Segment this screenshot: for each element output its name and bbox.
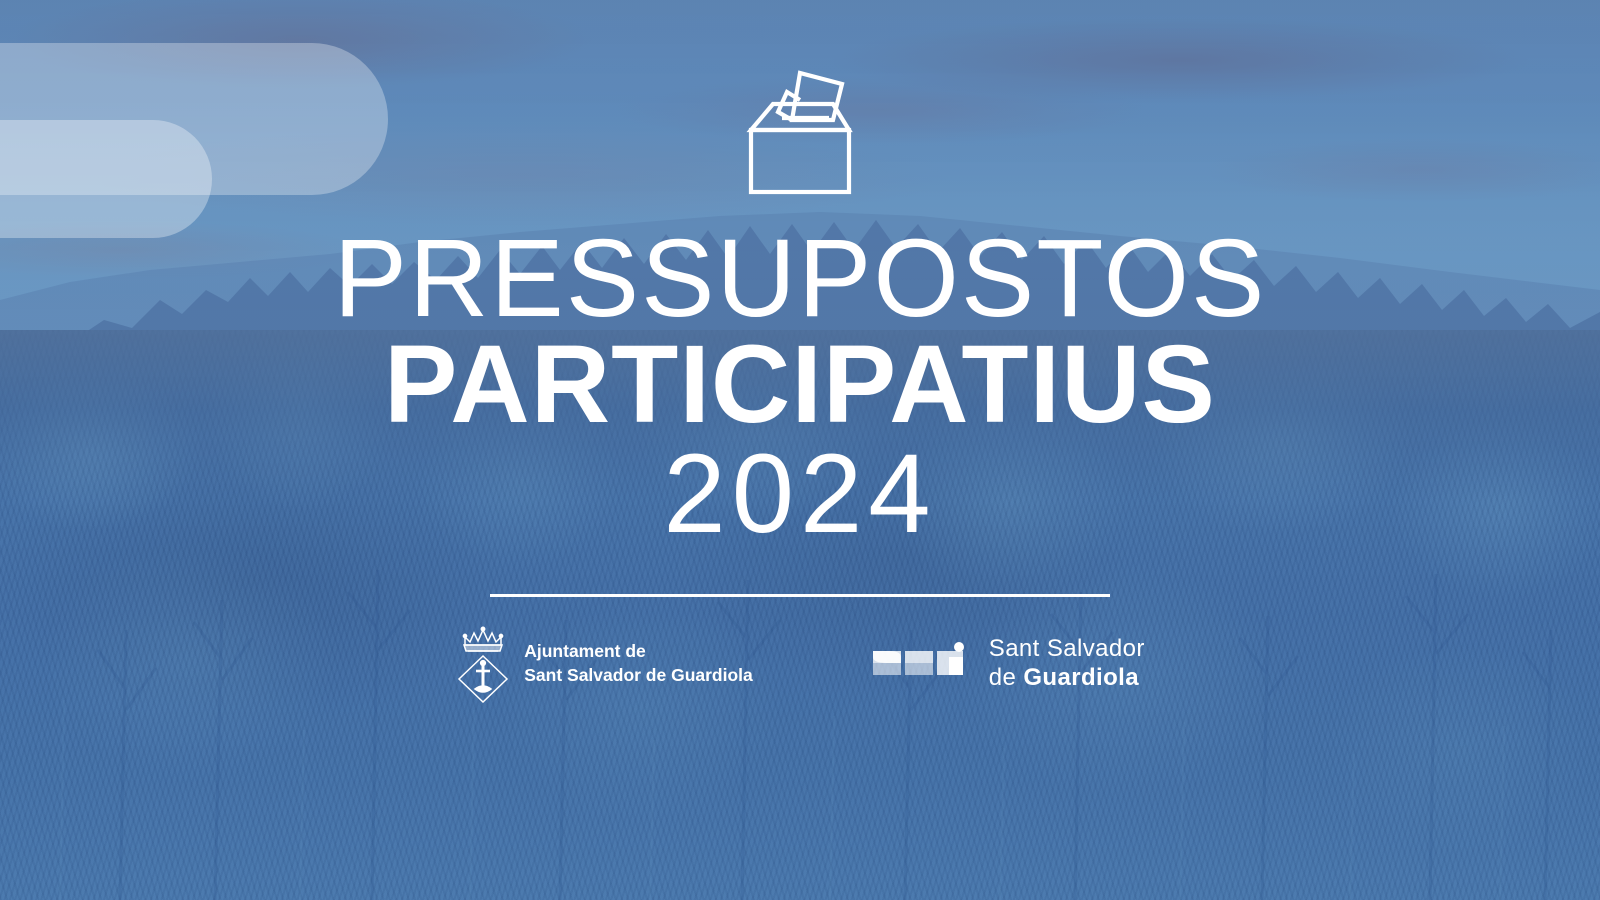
ssg-logo-text: Sant Salvador de Guardiola bbox=[989, 635, 1145, 692]
ballot-box-icon bbox=[745, 62, 855, 197]
page-title-year: 2024 bbox=[334, 437, 1267, 551]
ssg-logo-line2-bold: Guardiola bbox=[1023, 664, 1139, 691]
logo-row: Ajuntament de Sant Salvador de Guardiola bbox=[455, 625, 1145, 703]
poster-canvas: PRESSUPOSTOS PARTICIPATIUS 2024 bbox=[0, 0, 1600, 900]
ajuntament-logo-line2: Sant Salvador de Guardiola bbox=[524, 664, 753, 687]
ajuntament-logo-line1: Ajuntament de bbox=[524, 640, 753, 663]
ssg-logo: Sant Salvador de Guardiola bbox=[871, 635, 1145, 692]
title-block: PRESSUPOSTOS PARTICIPATIUS 2024 bbox=[334, 223, 1267, 552]
ssg-monogram-icon bbox=[871, 641, 975, 687]
ssg-logo-line2-light: de bbox=[989, 664, 1024, 691]
ajuntament-logo: Ajuntament de Sant Salvador de Guardiola bbox=[455, 625, 753, 703]
ajuntament-logo-text: Ajuntament de Sant Salvador de Guardiola bbox=[524, 640, 753, 687]
ajuntament-crest-icon bbox=[455, 625, 511, 703]
horizontal-divider bbox=[490, 594, 1110, 597]
poster-content: PRESSUPOSTOS PARTICIPATIUS 2024 bbox=[0, 0, 1600, 900]
ssg-logo-line1: Sant Salvador bbox=[989, 635, 1145, 663]
page-title-line2: PARTICIPATIUS bbox=[334, 329, 1267, 441]
page-title-line1: PRESSUPOSTOS bbox=[334, 223, 1267, 335]
ssg-logo-line2: de Guardiola bbox=[989, 664, 1145, 692]
